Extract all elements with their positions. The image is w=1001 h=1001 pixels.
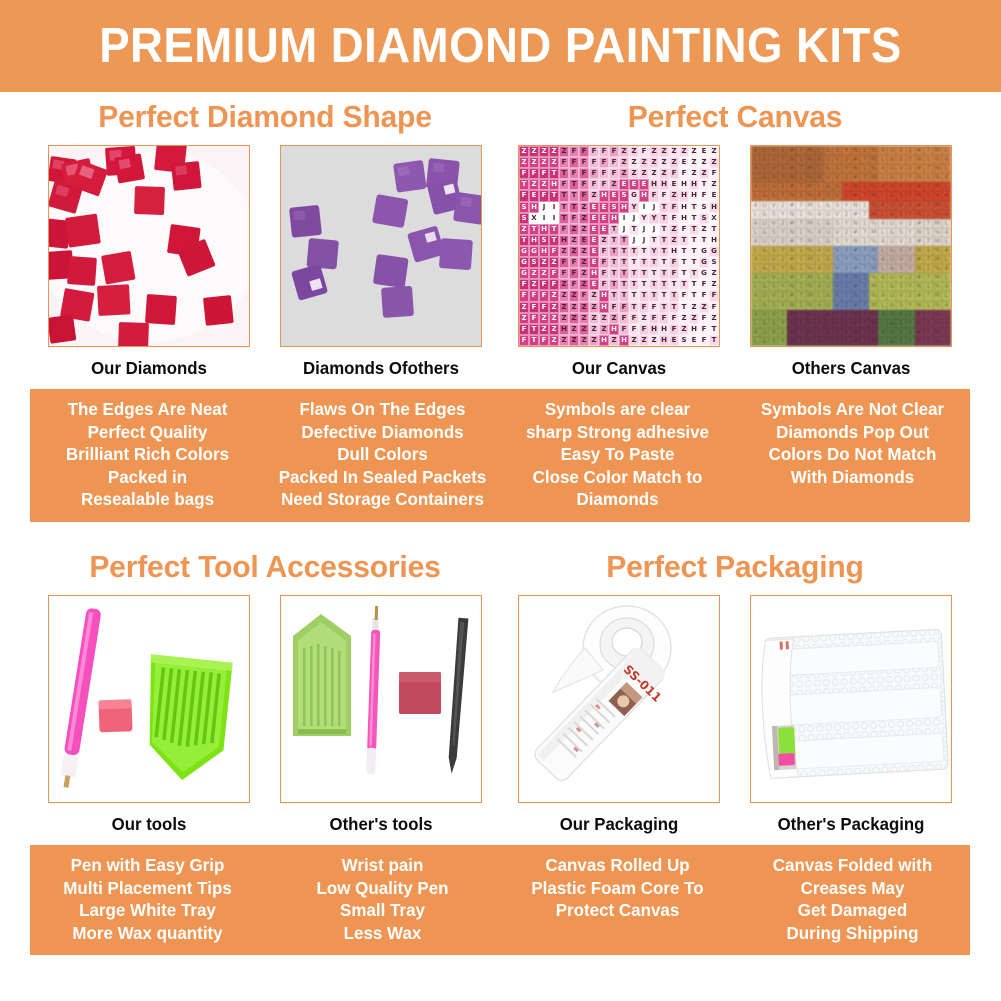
canvas-symbol-cell: E — [709, 190, 719, 201]
other-canvas-symbol-cell: 2 — [842, 173, 851, 182]
canvas-symbol-cell: T — [569, 190, 579, 201]
other-canvas-symbol-cell: U — [760, 164, 769, 173]
other-canvas-symbol-cell: # — [915, 291, 924, 300]
other-canvas-symbol-cell: % — [806, 210, 815, 219]
canvas-symbol-cell: T — [689, 279, 699, 290]
other-canvas-symbol-cell: 7 — [924, 291, 933, 300]
other-canvas-symbol-cell: N — [851, 219, 860, 228]
canvas-symbol-cell: Z — [549, 257, 559, 268]
other-canvas-symbol-cell: L — [942, 146, 951, 155]
canvas-symbol-cell: Z — [679, 324, 689, 335]
other-canvas-symbol-cell: 7 — [860, 191, 869, 200]
other-canvas-symbol-cell: & — [824, 219, 833, 228]
other-canvas-symbol-cell: % — [869, 164, 878, 173]
other-canvas-symbol-cell: M — [806, 255, 815, 264]
other-canvas-symbol-cell: N — [915, 301, 924, 310]
other-canvas-symbol-cell: 4 — [751, 310, 760, 319]
canvas-symbol-cell: H — [679, 179, 689, 190]
other-canvas-symbol-cell: & — [887, 191, 896, 200]
other-canvas-symbol-cell: L — [878, 155, 887, 164]
section-diamond-shape: Perfect Diamond Shape — [30, 98, 500, 522]
other-canvas-symbol-cell: L — [815, 255, 824, 264]
canvas-symbol-cell: I — [539, 213, 549, 224]
canvas-symbol-cell: F — [609, 168, 619, 179]
canvas-symbol-cell: E — [589, 257, 599, 268]
other-canvas-symbol-cell: Y — [906, 337, 915, 346]
canvas-symbol-cell: F — [599, 168, 609, 179]
other-canvas-symbol-cell: 7 — [924, 328, 933, 337]
bullet-item: sharp Strong adhesive — [507, 421, 727, 444]
other-canvas-symbol-cell: 2 — [778, 237, 787, 246]
other-canvas-symbol-cell: 4 — [815, 264, 824, 273]
other-canvas-symbol-cell: 2 — [906, 237, 915, 246]
section-title-packaging: Perfect Packaging — [507, 548, 963, 586]
other-canvas-symbol-cell: U — [824, 210, 833, 219]
bullet-item: Easy To Paste — [507, 443, 727, 466]
bullet-item: During Shipping — [742, 922, 962, 945]
other-canvas-symbol-cell: U — [887, 146, 896, 155]
other-canvas-symbol-cell: N — [787, 191, 796, 200]
other-canvas-symbol-cell: S — [769, 173, 778, 182]
canvas-symbol-cell: T — [669, 290, 679, 301]
other-canvas-symbol-cell: # — [851, 246, 860, 255]
other-canvas-symbol-cell: V — [833, 282, 842, 291]
canvas-symbol-cell: Z — [689, 146, 699, 157]
other-canvas-symbol-cell: Y — [906, 228, 915, 237]
other-canvas-symbol-cell: S — [833, 146, 842, 155]
canvas-symbol-cell: Z — [669, 157, 679, 168]
canvas-symbol-cell: T — [619, 246, 629, 257]
canvas-symbol-cell: F — [599, 279, 609, 290]
other-canvas-symbol-cell: 1 — [796, 246, 805, 255]
canvas-symbol-cell: S — [519, 202, 529, 213]
other-canvas-symbol-cell: M — [933, 201, 942, 210]
canvas-symbol-cell: T — [619, 279, 629, 290]
other-canvas-symbol-cell: & — [887, 264, 896, 273]
other-canvas-symbol-cell: # — [787, 219, 796, 228]
other-canvas-symbol-cell: S — [896, 337, 905, 346]
other-canvas-symbol-cell: 7 — [860, 264, 869, 273]
other-canvas-symbol-cell: M — [869, 191, 878, 200]
bullet-item: Wrist pain — [272, 854, 492, 877]
other-canvas-symbol-cell: 1 — [924, 155, 933, 164]
other-canvas-symbol-cell: % — [933, 210, 942, 219]
other-canvas-symbol-cell: N — [915, 210, 924, 219]
other-canvas-symbol-cell: M — [869, 337, 878, 346]
canvas-symbol-cell: Z — [539, 146, 549, 157]
other-canvas-symbol-cell: 2 — [906, 182, 915, 191]
other-canvas-symbol-cell: 1 — [924, 246, 933, 255]
canvas-symbol-cell: E — [599, 202, 609, 213]
other-canvas-symbol-cell: L — [815, 201, 824, 210]
other-canvas-symbol-cell: M — [806, 164, 815, 173]
other-canvas-symbol-cell: 1 — [796, 301, 805, 310]
other-canvas-symbol-cell: V — [833, 246, 842, 255]
other-canvas-symbol-cell: M — [869, 210, 878, 219]
other-canvas-symbol-cell: Y — [778, 337, 787, 346]
other-canvas-symbol-cell: & — [887, 173, 896, 182]
other-canvas-symbol-cell: Y — [842, 146, 851, 155]
other-canvas-symbol-cell: Y — [906, 173, 915, 182]
other-canvas-symbol-cell: 4 — [815, 191, 824, 200]
other-canvas-symbol-cell: N — [851, 146, 860, 155]
canvas-symbol-cell: H — [709, 202, 719, 213]
other-canvas-symbol-cell: M — [933, 146, 942, 155]
canvas-symbol-cell: F — [679, 168, 689, 179]
other-canvas-symbol-cell: 4 — [878, 328, 887, 337]
other-canvas-symbol-cell: & — [824, 255, 833, 264]
other-canvas-symbol-cell: 4 — [815, 337, 824, 346]
canvas-symbol-cell: F — [599, 179, 609, 190]
bullet-item: Canvas Rolled Up — [507, 854, 727, 877]
canvas-symbol-cell: T — [609, 279, 619, 290]
other-canvas-symbol-cell: U — [760, 291, 769, 300]
canvas-symbol-cell: Z — [559, 146, 569, 157]
canvas-symbol-cell: F — [579, 190, 589, 201]
canvas-symbol-cell: Z — [569, 235, 579, 246]
canvas-symbol-cell: F — [599, 157, 609, 168]
bullet-item: Close Color Match to — [507, 466, 727, 489]
canvas-symbol-cell: T — [639, 268, 649, 279]
canvas-symbol-cell: F — [669, 313, 679, 324]
other-canvas-symbol-cell: % — [869, 273, 878, 282]
canvas-symbol-cell: F — [659, 190, 669, 201]
caption-other-packaging: Other's Packaging — [754, 814, 948, 834]
other-canvas-symbol-cell: # — [787, 201, 796, 210]
other-canvas-symbol-cell: V — [833, 319, 842, 328]
canvas-symbol-cell: F — [699, 324, 709, 335]
other-canvas-symbol-cell: V — [833, 228, 842, 237]
other-canvas-symbol-cell: # — [787, 328, 796, 337]
other-canvas-symbol-cell: S — [833, 182, 842, 191]
canvas-symbol-cell: T — [659, 279, 669, 290]
canvas-symbol-cell: Z — [519, 146, 529, 157]
other-canvas-symbol-cell: Y — [778, 191, 787, 200]
canvas-symbol-cell: Z — [569, 246, 579, 257]
canvas-symbol-cell: T — [619, 290, 629, 301]
other-canvas-symbol-cell: L — [751, 264, 760, 273]
canvas-symbol-cell: E — [589, 213, 599, 224]
canvas-symbol-cell: S — [709, 257, 719, 268]
canvas-symbol-cell: Z — [709, 313, 719, 324]
other-canvas-symbol-cell: 7 — [796, 201, 805, 210]
other-canvas-symbol-cell: U — [824, 155, 833, 164]
canvas-symbol-cell: H — [599, 190, 609, 201]
other-canvas-symbol-cell: S — [896, 319, 905, 328]
other-canvas-symbol-cell: 4 — [815, 319, 824, 328]
other-canvas-symbol-cell: L — [942, 164, 951, 173]
other-canvas-symbol-cell: 1 — [860, 328, 869, 337]
other-canvas-symbol-cell: 7 — [796, 219, 805, 228]
canvas-symbol-cell: Z — [529, 268, 539, 279]
bullet-item: Perfect Quality — [37, 421, 257, 444]
canvas-symbol-cell: H — [589, 268, 599, 279]
canvas-symbol-cell: F — [539, 279, 549, 290]
other-canvas-symbol-cell: % — [869, 291, 878, 300]
canvas-symbol-cell: Z — [589, 290, 599, 301]
bullet-item: Low Quality Pen — [272, 877, 492, 900]
other-canvas-symbol-cell: V — [896, 310, 905, 319]
other-canvas-symbol-cell: 7 — [924, 182, 933, 191]
other-canvas-symbol-cell: & — [760, 337, 769, 346]
other-canvas-symbol-cell: % — [869, 182, 878, 191]
other-canvas-symbol-cell: & — [760, 173, 769, 182]
other-canvas-symbol-cell: U — [887, 310, 896, 319]
other-canvas-symbol-cell: S — [833, 310, 842, 319]
other-canvas-symbol-cell: # — [915, 146, 924, 155]
canvas-symbol-cell: F — [609, 146, 619, 157]
other-canvas-symbol-cell: U — [824, 301, 833, 310]
canvas-symbol-cell: E — [619, 179, 629, 190]
bullet-item: Large White Tray — [37, 899, 257, 922]
other-canvas-symbol-cell: % — [933, 319, 942, 328]
canvas-symbol-cell: F — [569, 168, 579, 179]
other-canvas-symbol-cell: & — [824, 201, 833, 210]
other-canvas-symbol-cell: V — [896, 291, 905, 300]
bullet-item: Plastic Foam Core To — [507, 877, 727, 900]
other-canvas-symbol-cell: & — [887, 319, 896, 328]
canvas-symbol-cell: T — [639, 290, 649, 301]
canvas-symbol-cell: F — [559, 257, 569, 268]
canvas-symbol-cell: J — [539, 202, 549, 213]
other-canvas-symbol-cell: % — [869, 310, 878, 319]
other-canvas-symbol-cell: M — [933, 237, 942, 246]
other-canvas-symbol-cell: 4 — [942, 155, 951, 164]
canvas-symbol-cell: H — [609, 324, 619, 335]
canvas-symbol-cell: H — [689, 324, 699, 335]
other-canvas-symbol-cell: Y — [842, 201, 851, 210]
canvas-symbol-cell: F — [599, 268, 609, 279]
other-canvas-symbol-cell: 1 — [796, 337, 805, 346]
other-canvas-symbol-cell: Y — [842, 255, 851, 264]
other-canvas-symbol-cell: 1 — [860, 255, 869, 264]
canvas-symbol-cell: F — [569, 146, 579, 157]
canvas-symbol-cell: H — [599, 335, 609, 346]
other-canvas-symbol-cell: & — [760, 301, 769, 310]
other-canvas-symbol-cell: & — [760, 155, 769, 164]
other-canvas-symbol-cell: 7 — [924, 237, 933, 246]
bullets-other-packaging: Canvas Folded with Creases May Get Damag… — [739, 854, 967, 944]
other-canvas-symbol-cell: 1 — [796, 210, 805, 219]
other-canvas-symbol-cell: # — [851, 301, 860, 310]
other-canvas-symbol-grid: 4UV2#7ML&SYN1%4UV2#7MLL&SYN1%4UV2#7ML&SY… — [751, 146, 951, 346]
canvas-symbol-cell: T — [679, 235, 689, 246]
canvas-symbol-cell: T — [609, 268, 619, 279]
other-canvas-symbol-cell: 1 — [796, 282, 805, 291]
canvas-symbol-cell: Z — [649, 146, 659, 157]
other-canvas-symbol-cell: U — [760, 237, 769, 246]
canvas-symbol-cell: I — [549, 202, 559, 213]
canvas-symbol-cell: H — [649, 324, 659, 335]
canvas-symbol-cell: J — [629, 235, 639, 246]
other-canvas-symbol-cell: # — [851, 228, 860, 237]
other-canvas-symbol-cell: % — [869, 237, 878, 246]
canvas-symbol-cell: Z — [539, 257, 549, 268]
other-canvas-symbol-cell: N — [915, 282, 924, 291]
canvas-symbol-cell: Z — [699, 224, 709, 235]
other-canvas-symbol-cell: N — [787, 301, 796, 310]
other-canvas-symbol-cell: S — [896, 210, 905, 219]
section-tool-accessories: Perfect Tool Accessories — [30, 548, 500, 955]
other-canvas-symbol-cell: 2 — [842, 191, 851, 200]
other-canvas-symbol-cell: Y — [906, 210, 915, 219]
canvas-symbol-cell: T — [549, 168, 559, 179]
other-canvas-symbol-cell: 4 — [878, 182, 887, 191]
bullet-item: Dull Colors — [272, 443, 492, 466]
canvas-symbol-cell: F — [519, 335, 529, 346]
canvas-symbol-cell: G — [709, 246, 719, 257]
other-canvas-symbol-cell: % — [933, 337, 942, 346]
other-canvas-symbol-cell: M — [869, 228, 878, 237]
other-canvas-symbol-cell: 1 — [860, 201, 869, 210]
canvas-symbol-cell: S — [529, 257, 539, 268]
other-canvas-symbol-cell: 4 — [878, 219, 887, 228]
other-canvas-symbol-cell: N — [851, 273, 860, 282]
bullets-other-canvas: Symbols Are Not Clear Diamonds Pop Out C… — [739, 398, 967, 511]
canvas-symbol-cell: F — [699, 279, 709, 290]
other-canvas-symbol-cell: 7 — [796, 328, 805, 337]
photo-other-packaging — [750, 595, 952, 803]
other-canvas-symbol-cell: M — [869, 301, 878, 310]
canvas-symbol-cell: F — [539, 290, 549, 301]
other-canvas-symbol-cell: # — [851, 319, 860, 328]
other-canvas-symbol-cell: 4 — [942, 337, 951, 346]
other-canvas-symbol-cell: # — [915, 328, 924, 337]
other-canvas-symbol-cell: S — [769, 191, 778, 200]
other-canvas-symbol-cell: S — [769, 228, 778, 237]
bullets-our-tools: Pen with Easy Grip Multi Placement Tips … — [34, 854, 262, 944]
other-canvas-symbol-cell: V — [769, 273, 778, 282]
bullet-item: Diamonds — [507, 488, 727, 511]
other-canvas-symbol-cell: % — [806, 337, 815, 346]
other-canvas-symbol-cell: V — [896, 255, 905, 264]
canvas-symbol-cell: H — [679, 213, 689, 224]
canvas-symbol-cell: T — [609, 246, 619, 257]
canvas-symbol-cell: F — [699, 190, 709, 201]
other-canvas-symbol-cell: # — [851, 155, 860, 164]
other-canvas-symbol-cell: 2 — [842, 337, 851, 346]
canvas-symbol-cell: F — [519, 279, 529, 290]
other-canvas-symbol-cell: % — [933, 282, 942, 291]
canvas-symbol-cell: G — [519, 268, 529, 279]
canvas-symbol-cell: T — [609, 224, 619, 235]
other-canvas-symbol-cell: S — [896, 228, 905, 237]
other-canvas-symbol-cell: S — [833, 255, 842, 264]
canvas-symbol-cell: T — [649, 235, 659, 246]
other-canvas-symbol-cell: S — [833, 164, 842, 173]
canvas-symbol-cell: T — [569, 179, 579, 190]
canvas-symbol-cell: F — [619, 313, 629, 324]
canvas-symbol-cell: F — [519, 324, 529, 335]
comparison-pair-diamond-shape: Our Diamonds — [30, 145, 500, 378]
comparison-cell-our-diamonds: Our Diamonds — [48, 145, 250, 378]
other-canvas-symbol-cell: 7 — [924, 255, 933, 264]
other-canvas-symbol-cell: M — [933, 164, 942, 173]
other-canvas-symbol-cell: % — [933, 301, 942, 310]
other-canvas-symbol-cell: N — [851, 164, 860, 173]
canvas-symbol-cell: T — [689, 290, 699, 301]
canvas-symbol-cell: Z — [649, 335, 659, 346]
other-diamonds-illustration — [281, 146, 481, 346]
other-canvas-symbol-cell: S — [769, 264, 778, 273]
canvas-symbol-cell: Z — [689, 157, 699, 168]
other-canvas-symbol-cell: 4 — [878, 291, 887, 300]
other-canvas-symbol-cell: Y — [842, 328, 851, 337]
canvas-symbol-cell: F — [629, 324, 639, 335]
bullet-item: Resealable bags — [37, 488, 257, 511]
other-canvas-symbol-cell: Y — [778, 228, 787, 237]
canvas-symbol-cell: T — [619, 257, 629, 268]
other-canvas-symbol-cell: 2 — [842, 210, 851, 219]
other-canvas-symbol-cell: V — [833, 337, 842, 346]
other-canvas-symbol-cell: L — [942, 237, 951, 246]
canvas-symbol-cell: T — [659, 202, 669, 213]
other-canvas-symbol-cell: 2 — [906, 164, 915, 173]
other-canvas-symbol-cell: 7 — [860, 301, 869, 310]
other-canvas-symbol-cell: V — [769, 219, 778, 228]
other-canvas-symbol-cell: N — [915, 173, 924, 182]
other-canvas-symbol-cell: % — [869, 201, 878, 210]
bullets-packaging: Canvas Rolled Up Plastic Foam Core To Pr… — [500, 845, 970, 955]
other-canvas-symbol-cell: M — [869, 264, 878, 273]
canvas-symbol-cell: H — [639, 190, 649, 201]
canvas-symbol-cell: Z — [559, 279, 569, 290]
other-canvas-symbol-cell: # — [851, 264, 860, 273]
canvas-symbol-cell: F — [619, 302, 629, 313]
canvas-symbol-cell: T — [689, 246, 699, 257]
other-canvas-symbol-cell: N — [915, 191, 924, 200]
canvas-symbol-cell: Z — [659, 146, 669, 157]
canvas-symbol-cell: Z — [679, 313, 689, 324]
canvas-symbol-cell: T — [669, 302, 679, 313]
canvas-symbol-cell: T — [609, 257, 619, 268]
other-canvas-symbol-cell: 2 — [842, 282, 851, 291]
other-canvas-symbol-cell: 1 — [860, 182, 869, 191]
other-canvas-symbol-cell: & — [760, 264, 769, 273]
bullets-our-diamonds: The Edges Are Neat Perfect Quality Brill… — [34, 398, 262, 511]
other-canvas-symbol-cell: 7 — [796, 237, 805, 246]
bullets-tools: Pen with Easy Grip Multi Placement Tips … — [30, 845, 500, 955]
canvas-symbol-cell: Z — [689, 313, 699, 324]
canvas-symbol-cell: H — [619, 202, 629, 213]
canvas-symbol-cell: Z — [579, 313, 589, 324]
canvas-symbol-cell: H — [529, 202, 539, 213]
other-canvas-symbol-cell: N — [915, 246, 924, 255]
canvas-symbol-cell: H — [619, 335, 629, 346]
other-canvas-symbol-cell: U — [760, 182, 769, 191]
other-canvas-symbol-cell: M — [933, 255, 942, 264]
canvas-symbol-cell: T — [709, 324, 719, 335]
other-canvas-symbol-cell: 4 — [942, 282, 951, 291]
bullets-other-tools: Wrist pain Low Quality Pen Small Tray Le… — [269, 854, 497, 944]
other-canvas-symbol-cell: 4 — [878, 237, 887, 246]
other-canvas-symbol-cell: # — [915, 201, 924, 210]
other-canvas-symbol-cell: % — [933, 264, 942, 273]
canvas-symbol-cell: F — [629, 313, 639, 324]
other-canvas-symbol-cell: 4 — [815, 210, 824, 219]
section-packaging: Perfect Packaging — [500, 548, 970, 955]
other-canvas-symbol-cell: L — [942, 182, 951, 191]
other-canvas-symbol-cell: 4 — [878, 310, 887, 319]
canvas-symbol-cell: T — [559, 168, 569, 179]
caption-our-tools: Our tools — [52, 814, 246, 834]
other-canvas-symbol-cell: # — [915, 255, 924, 264]
canvas-symbol-cell: S — [679, 335, 689, 346]
other-canvas-symbol-cell: 7 — [796, 273, 805, 282]
canvas-symbol-cell: H — [609, 213, 619, 224]
canvas-symbol-cell: Z — [519, 157, 529, 168]
canvas-symbol-cell: G — [699, 268, 709, 279]
